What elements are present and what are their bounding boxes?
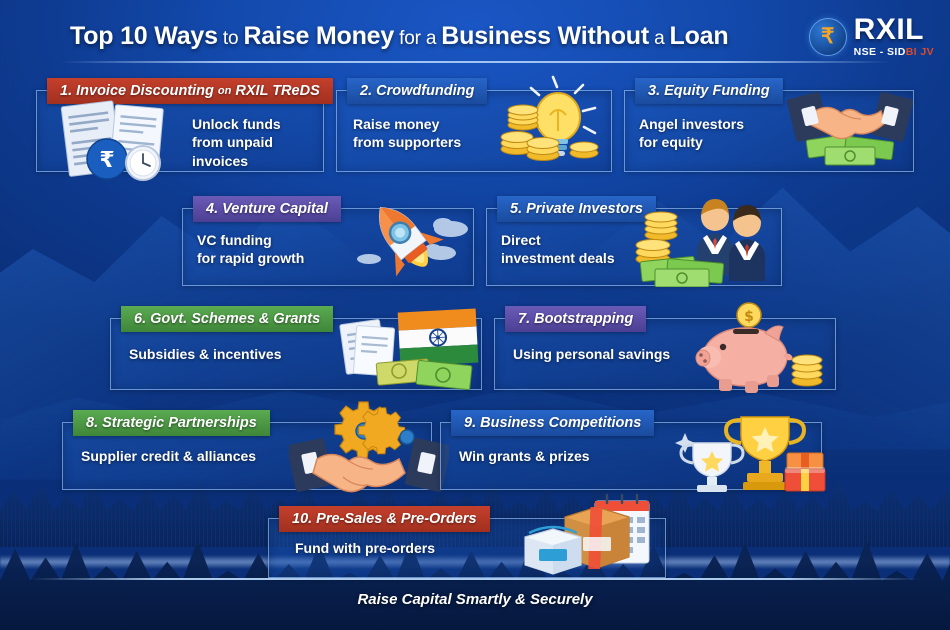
card-title-9: 9. Business Competitions	[464, 415, 641, 431]
card-body-2: Raise money from supporters	[353, 115, 493, 152]
card-header-6: 6. Govt. Schemes & Grants	[121, 306, 333, 332]
card-private-investors[interactable]: 5. Private Investors Direct investment d…	[486, 208, 782, 286]
card-body-3: Angel investors for equity	[639, 115, 789, 152]
card-invoice-discounting[interactable]: 1. Invoice Discounting on RXIL TReDS Unl…	[36, 90, 324, 172]
card-header-10: 10. Pre-Sales & Pre-Orders	[279, 506, 490, 532]
card-title-4: 4. Venture Capital	[206, 201, 328, 217]
rocket-clouds-icon	[333, 193, 473, 289]
svg-text:₹: ₹	[99, 148, 114, 173]
svg-text:$: $	[744, 309, 754, 325]
india-flag-documents-cash-icon	[329, 303, 489, 395]
handshake-gears-icon	[289, 401, 449, 501]
boxes-calendar-icon	[499, 489, 679, 581]
card-crowdfunding[interactable]: 2. Crowdfunding Raise money from support…	[336, 90, 612, 172]
investors-coins-cash-icon	[627, 189, 782, 287]
card-header-9: 9. Business Competitions	[451, 410, 654, 436]
card-header-7: 7. Bootstrapping	[505, 306, 646, 332]
card-title-7: 7. Bootstrapping	[518, 311, 633, 327]
card-header-4: 4. Venture Capital	[193, 196, 341, 222]
piggy-bank-coins-icon: $	[683, 301, 833, 395]
card-body-8: Supplier credit & alliances	[81, 447, 321, 465]
handshake-cash-icon	[785, 77, 915, 173]
card-title-5: 5. Private Investors	[510, 201, 643, 217]
card-title-2: 2. Crowdfunding	[360, 83, 474, 99]
card-body-10: Fund with pre-orders	[295, 539, 525, 557]
cards-grid: 1. Invoice Discounting on RXIL TReDS Unl…	[0, 0, 950, 630]
card-header-2: 2. Crowdfunding	[347, 78, 487, 104]
card-venture-capital[interactable]: 4. Venture Capital VC funding for rapid …	[182, 208, 474, 286]
card-title-8: 8. Strategic Partnerships	[86, 415, 257, 431]
card-title-3: 3. Equity Funding	[648, 83, 770, 99]
footer-divider	[30, 578, 920, 580]
card-business-competitions[interactable]: 9. Business Competitions Win grants & pr…	[440, 422, 822, 490]
card-body-1: Unlock funds from unpaid invoices	[192, 115, 327, 170]
card-title-1-small: on	[218, 85, 231, 97]
card-pre-sales-pre-orders[interactable]: 10. Pre-Sales & Pre-Orders Fund with pre…	[268, 518, 666, 578]
card-title-6: 6. Govt. Schemes & Grants	[134, 311, 320, 327]
card-equity-funding[interactable]: 3. Equity Funding Angel investors for eq…	[624, 90, 914, 172]
card-body-6: Subsidies & incentives	[129, 345, 359, 363]
trophies-gifts-icon	[651, 399, 826, 501]
card-bootstrapping[interactable]: 7. Bootstrapping Using personal savings …	[494, 318, 836, 390]
card-body-9: Win grants & prizes	[459, 447, 679, 465]
card-title-10: 10. Pre-Sales & Pre-Orders	[292, 511, 477, 527]
lightbulb-coins-icon	[487, 75, 607, 175]
card-body-4: VC funding for rapid growth	[197, 231, 347, 268]
invoice-documents-rupee-clock-icon: ₹	[51, 97, 186, 183]
card-title-1-tail: RXIL TReDS	[235, 83, 319, 99]
card-strategic-partnerships[interactable]: 8. Strategic Partnerships Supplier credi…	[62, 422, 432, 490]
card-header-8: 8. Strategic Partnerships	[73, 410, 270, 436]
card-govt-schemes-grants[interactable]: 6. Govt. Schemes & Grants Subsidies & in…	[110, 318, 482, 390]
footer-tagline: Raise Capital Smartly & Securely	[0, 591, 950, 608]
card-header-3: 3. Equity Funding	[635, 78, 783, 104]
